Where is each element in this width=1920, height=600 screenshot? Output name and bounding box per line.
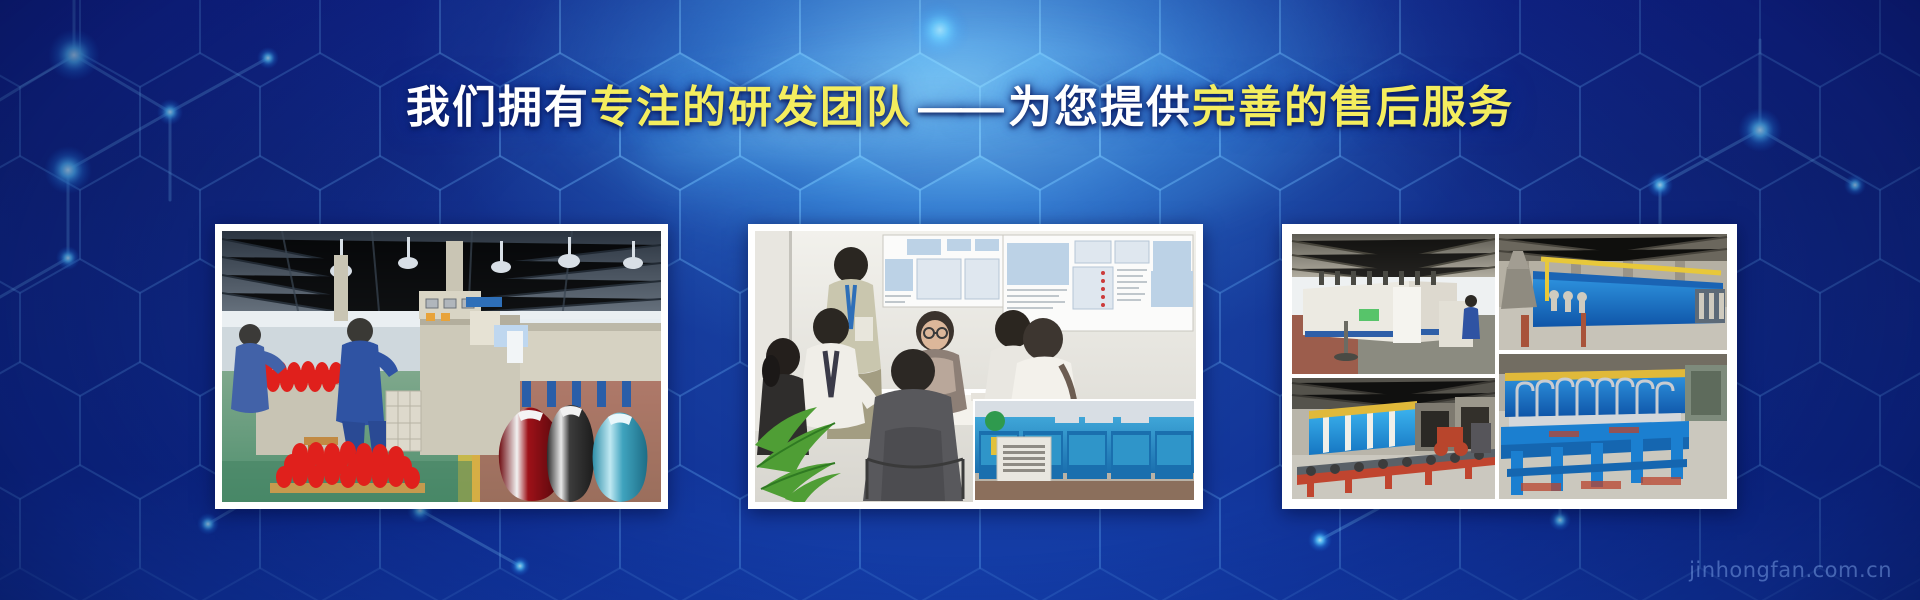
page-title: 我们拥有专注的研发团队——为您提供完善的售后服务 [0, 83, 1920, 134]
team-meeting-photo [755, 231, 1196, 502]
headline-part-1: 我们拥有 [406, 83, 590, 132]
watermark: jinhongfan.com.cn [1689, 558, 1892, 582]
headline-accent-2: 完善的售后服务 [1192, 83, 1514, 132]
gallery-item-production-line[interactable] [215, 224, 668, 509]
headline-accent-1: 专注的研发团队 [590, 83, 912, 132]
gallery-item-team-meeting[interactable] [748, 224, 1203, 509]
hero-banner: 我们拥有专注的研发团队——为您提供完善的售后服务 [0, 0, 1920, 600]
production-line-photo [222, 231, 661, 502]
equipment-collage-photo [1289, 231, 1730, 502]
headline-dash: —— [912, 83, 1008, 132]
headline-part-2: 为您提供 [1008, 83, 1192, 132]
gallery-item-equipment-collage[interactable] [1282, 224, 1737, 509]
photo-gallery [0, 224, 1920, 509]
